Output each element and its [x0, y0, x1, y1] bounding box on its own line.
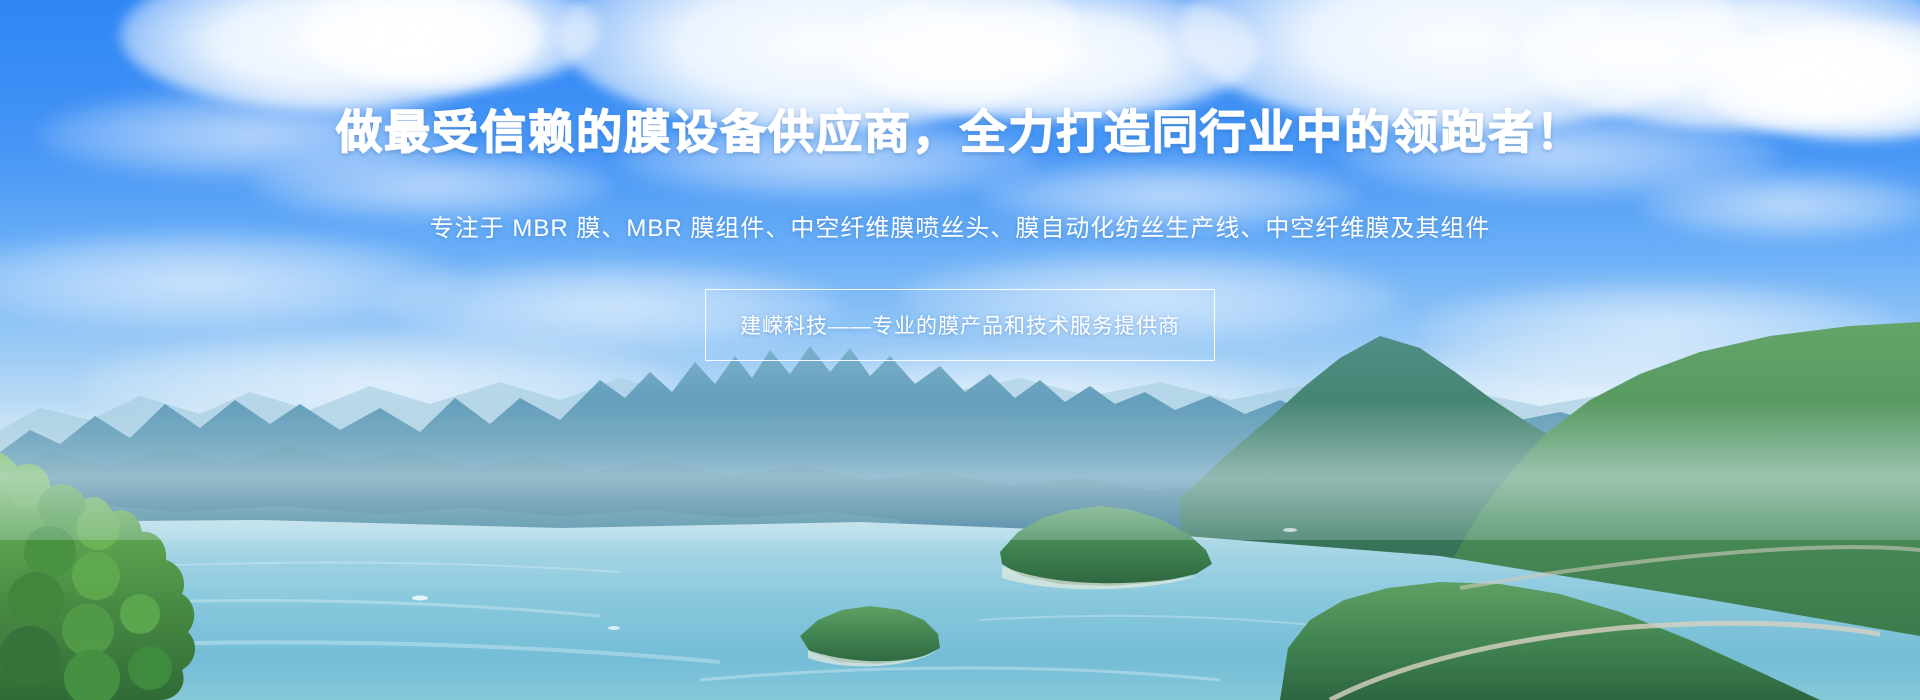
boat [412, 596, 428, 601]
banner-tagline: 建嵘科技——专业的膜产品和技术服务提供商 [740, 315, 1180, 338]
hero-banner: 做最受信赖的膜设备供应商，全力打造同行业中的领跑者！ 专注于 MBR 膜、MBR… [0, 0, 1920, 700]
boat [1283, 528, 1297, 532]
banner-tagline-box[interactable]: 建嵘科技——专业的膜产品和技术服务提供商 [705, 289, 1215, 361]
banner-headline: 做最受信赖的膜设备供应商，全力打造同行业中的领跑者！ [336, 96, 1584, 162]
boat [608, 626, 620, 630]
banner-subline: 专注于 MBR 膜、MBR 膜组件、中空纤维膜喷丝头、膜自动化纺丝生产线、中空纤… [430, 208, 1491, 243]
